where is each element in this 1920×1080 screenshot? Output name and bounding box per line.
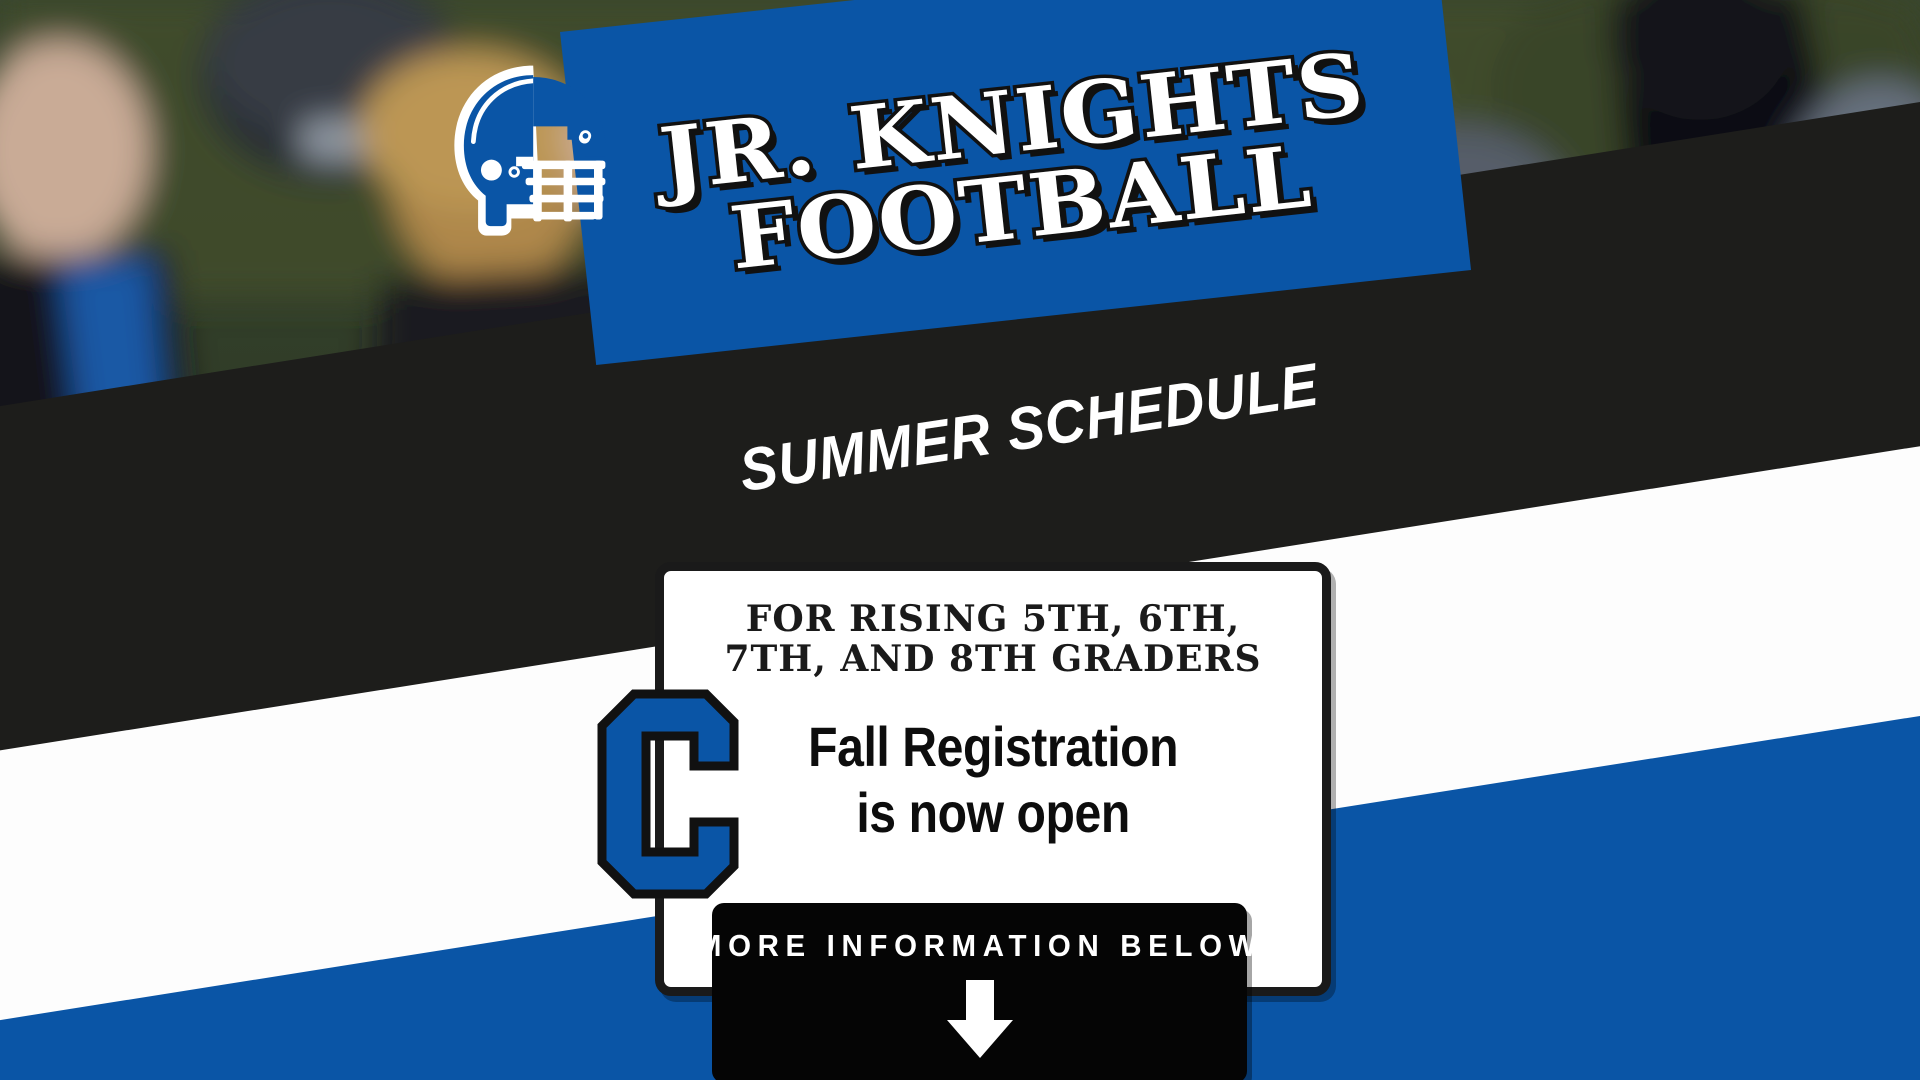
- more-information-label: MORE INFORMATION BELOW: [696, 928, 1262, 964]
- varsity-c-logo: [594, 688, 744, 900]
- eligibility-line-1: FOR RISING 5TH, 6TH,: [724, 599, 1261, 639]
- headline-line-2: is now open: [808, 780, 1178, 846]
- eligibility-line-2: 7TH, AND 8TH GRADERS: [724, 639, 1261, 679]
- eligibility-text: FOR RISING 5TH, 6TH, 7TH, AND 8TH GRADER…: [724, 599, 1261, 680]
- flyer-canvas: 23: [0, 0, 1920, 1080]
- more-information-button[interactable]: MORE INFORMATION BELOW: [712, 903, 1247, 1080]
- football-helmet-icon: [442, 58, 632, 243]
- arrow-down-icon: [937, 976, 1023, 1067]
- headline-line-1: Fall Registration: [808, 714, 1178, 780]
- headline-text: Fall Registration is now open: [808, 714, 1178, 846]
